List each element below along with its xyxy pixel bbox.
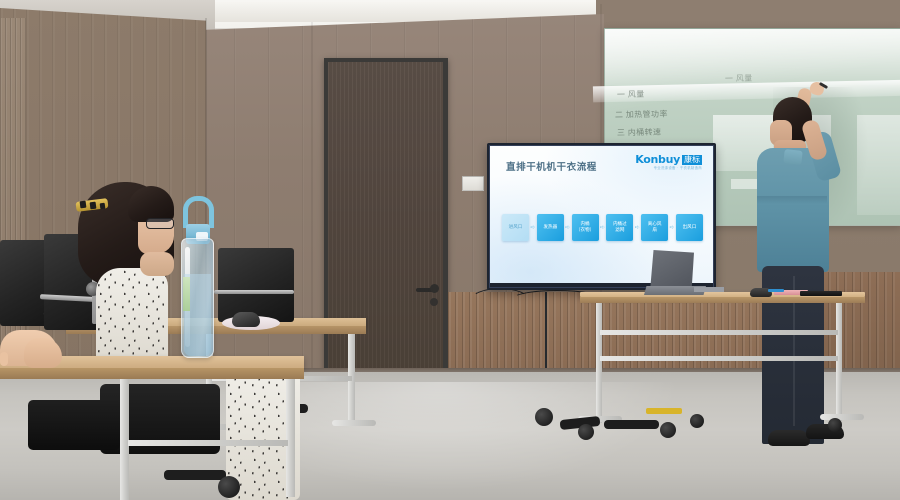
flow-arrow-2: ➪: [565, 224, 570, 231]
foreground-finger: [0, 352, 8, 366]
attendee-blouse: [96, 268, 168, 366]
flow-arrow-3: ➪: [600, 224, 605, 231]
presenter-table-caster-4: [690, 414, 704, 428]
presenter-table-leg-left: [596, 303, 602, 423]
presenter-collar: [783, 149, 802, 165]
process-flow-diagram: 进风口➪发热器➪内桶（衣物）➪内桶过滤网➪离心风扇➪出风口: [502, 214, 703, 241]
slide-title: 直排干机机干衣流程: [506, 159, 597, 173]
foreground-hand-right: [24, 338, 62, 368]
presenter-table-frame-bar: [604, 420, 659, 429]
meeting-room-scene: 一 风量 二 加热管功率 三 内桶转速 四 排风温度 一 风量 直排干机机干衣流…: [0, 0, 900, 500]
flow-step-1: 进风口: [502, 214, 529, 241]
front-table-leg-right: [286, 379, 295, 497]
whiteboard-line-1: 一 风量: [617, 89, 645, 100]
flow-arrow-1: ➪: [530, 224, 535, 231]
whiteboard-line-5: 一 风量: [725, 73, 753, 84]
second-table-foot-right: [332, 420, 376, 426]
office-chair-right[interactable]: [218, 248, 294, 322]
presenter-table-caster-1: [535, 408, 553, 426]
laptop-palmrest: [694, 287, 724, 292]
flow-arrow-4: ➪: [635, 224, 640, 231]
flow-step-6: 出风口: [676, 214, 703, 241]
chair-seat-foreground[interactable]: [28, 400, 120, 450]
front-table-edge: [0, 368, 304, 379]
attendee-mouse[interactable]: [232, 312, 260, 327]
blue-marker[interactable]: [768, 289, 784, 292]
bottle-label: [183, 277, 190, 311]
attendee-glasses: [146, 218, 174, 229]
hair-clip-stone-2: [90, 202, 97, 210]
presenter-table-edge: [580, 297, 865, 303]
presenter-table-crossbar-upper: [600, 330, 838, 335]
logo-chinese-mark: 康标: [682, 155, 702, 165]
presenter-shirt-fold: [757, 196, 827, 204]
flow-step-2: 发热器: [537, 214, 564, 241]
flow-arrow-5: ➪: [670, 224, 675, 231]
presenter-table-leg-right: [836, 303, 842, 421]
presenter-table-caster-5: [828, 418, 842, 432]
front-table-crossbar: [128, 440, 288, 446]
hair-clip-stone-1: [80, 201, 87, 209]
chair-right-bar: [214, 290, 294, 294]
logo-tagline: 专业洗涤设备 · 干衣机制造商: [654, 167, 702, 170]
door-rose-icon: [430, 284, 439, 293]
presenter-table-caster-2: [578, 424, 594, 440]
door-lock-icon[interactable]: [430, 298, 438, 306]
presenter-table-crossbar-lower: [600, 356, 838, 361]
logo-wordmark: Konbuy: [635, 154, 680, 165]
whiteboard-line-2: 二 加热管功率: [615, 109, 668, 121]
flow-step-4: 内桶过滤网: [606, 214, 633, 241]
presenter-table-foot-right: [820, 414, 864, 420]
black-tablet[interactable]: [800, 291, 842, 296]
brand-logo: Konbuy 康标 专业洗涤设备 · 干衣机制造商: [635, 154, 702, 170]
wall-light-switch[interactable]: [462, 176, 484, 191]
flow-step-3: 内桶（衣物）: [572, 214, 599, 241]
flow-step-5: 离心风扇: [641, 214, 668, 241]
whiteboard-line-3: 三 内桶转速: [617, 127, 662, 139]
front-table-folded-frame: [164, 470, 226, 480]
front-table-caster: [218, 476, 240, 498]
hair-clip-stone-3: [100, 203, 106, 210]
presenter-table-safety-label: [646, 408, 682, 414]
presenter-shoe-left: [768, 430, 810, 446]
presenter-table-caster-3: [660, 422, 676, 438]
attendee-neck: [140, 252, 174, 276]
